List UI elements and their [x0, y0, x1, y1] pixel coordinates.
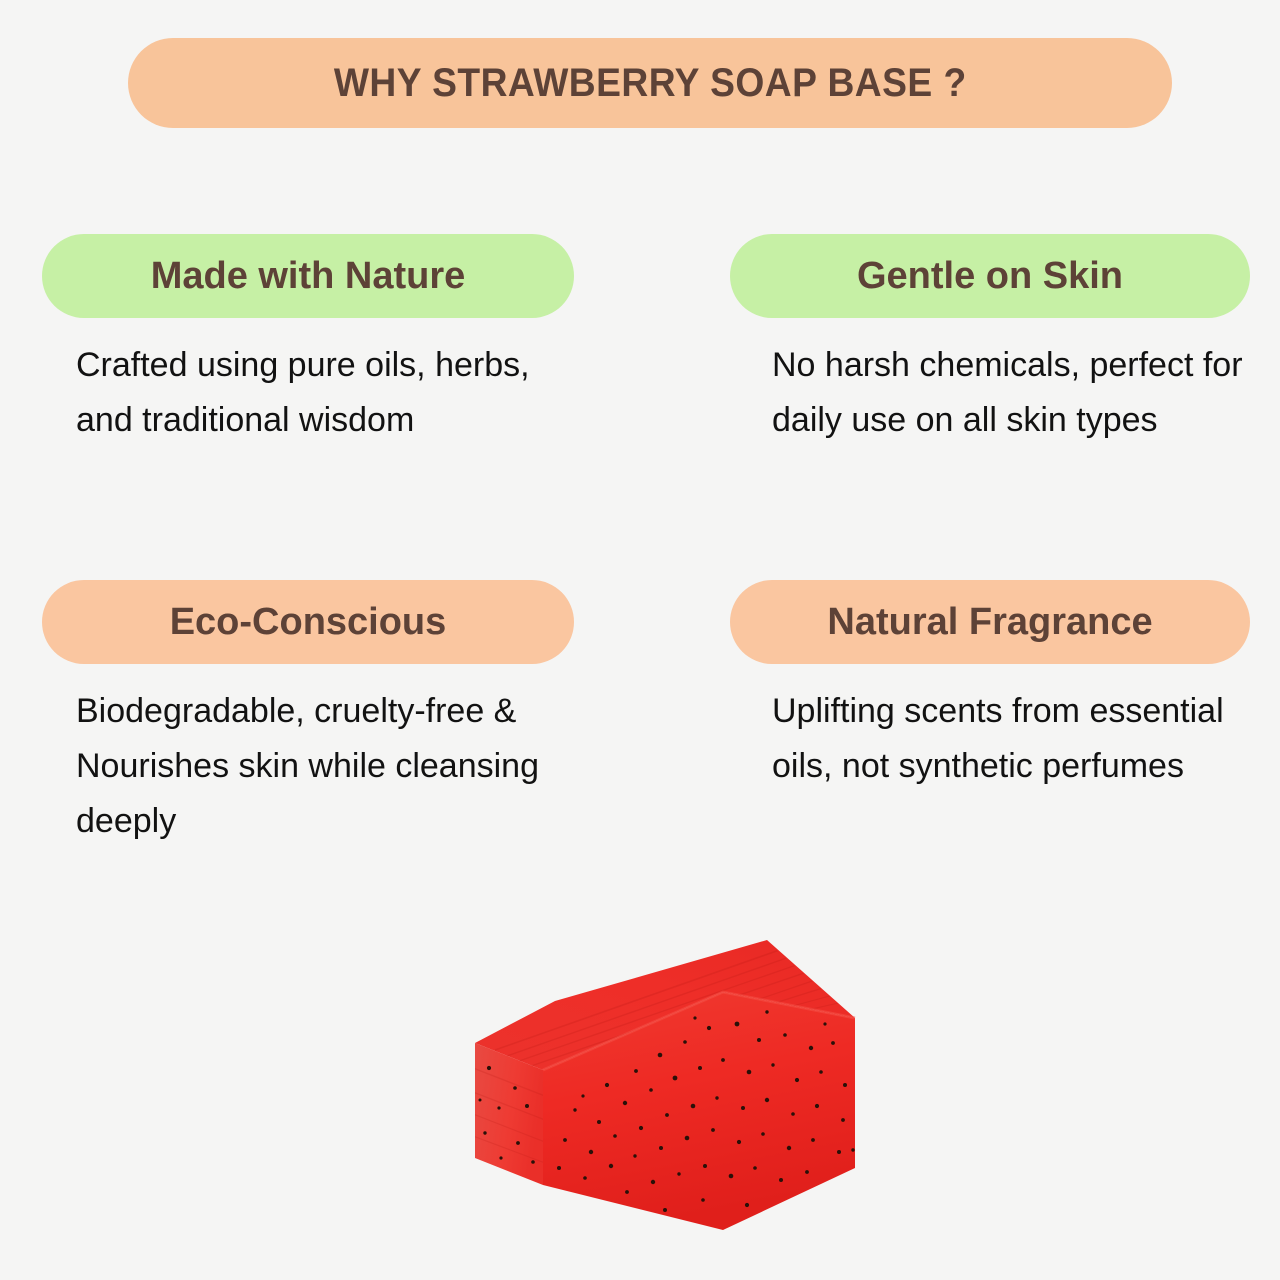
feature-description: Uplifting scents from essential oils, no…	[730, 684, 1250, 794]
page-title-banner: WHY STRAWBERRY SOAP BASE ?	[128, 38, 1172, 128]
feature-card-gentle-on-skin: Gentle on Skin No harsh chemicals, perfe…	[730, 234, 1250, 448]
feature-card-eco-conscious: Eco-Conscious Biodegradable, cruelty-fre…	[42, 580, 574, 849]
feature-card-made-with-nature: Made with Nature Crafted using pure oils…	[42, 234, 574, 448]
feature-description: Biodegradable, cruelty-free & Nourishes …	[42, 684, 574, 849]
feature-card-natural-fragrance: Natural Fragrance Uplifting scents from …	[730, 580, 1250, 794]
infographic-page: WHY STRAWBERRY SOAP BASE ? Made with Nat…	[0, 0, 1280, 1280]
feature-badge-eco-conscious: Eco-Conscious	[42, 580, 574, 664]
feature-badge-made-with-nature: Made with Nature	[42, 234, 574, 318]
page-title: WHY STRAWBERRY SOAP BASE ?	[334, 61, 967, 106]
product-image-strawberry-soap-bar	[455, 900, 875, 1260]
feature-description: No harsh chemicals, perfect for daily us…	[730, 338, 1250, 448]
feature-label: Eco-Conscious	[170, 603, 447, 641]
feature-description: Crafted using pure oils, herbs, and trad…	[42, 338, 574, 448]
feature-label: Gentle on Skin	[857, 257, 1123, 295]
soap-bar-illustration	[455, 900, 875, 1260]
feature-badge-natural-fragrance: Natural Fragrance	[730, 580, 1250, 664]
feature-label: Natural Fragrance	[827, 603, 1152, 641]
feature-badge-gentle-on-skin: Gentle on Skin	[730, 234, 1250, 318]
feature-label: Made with Nature	[151, 257, 466, 295]
